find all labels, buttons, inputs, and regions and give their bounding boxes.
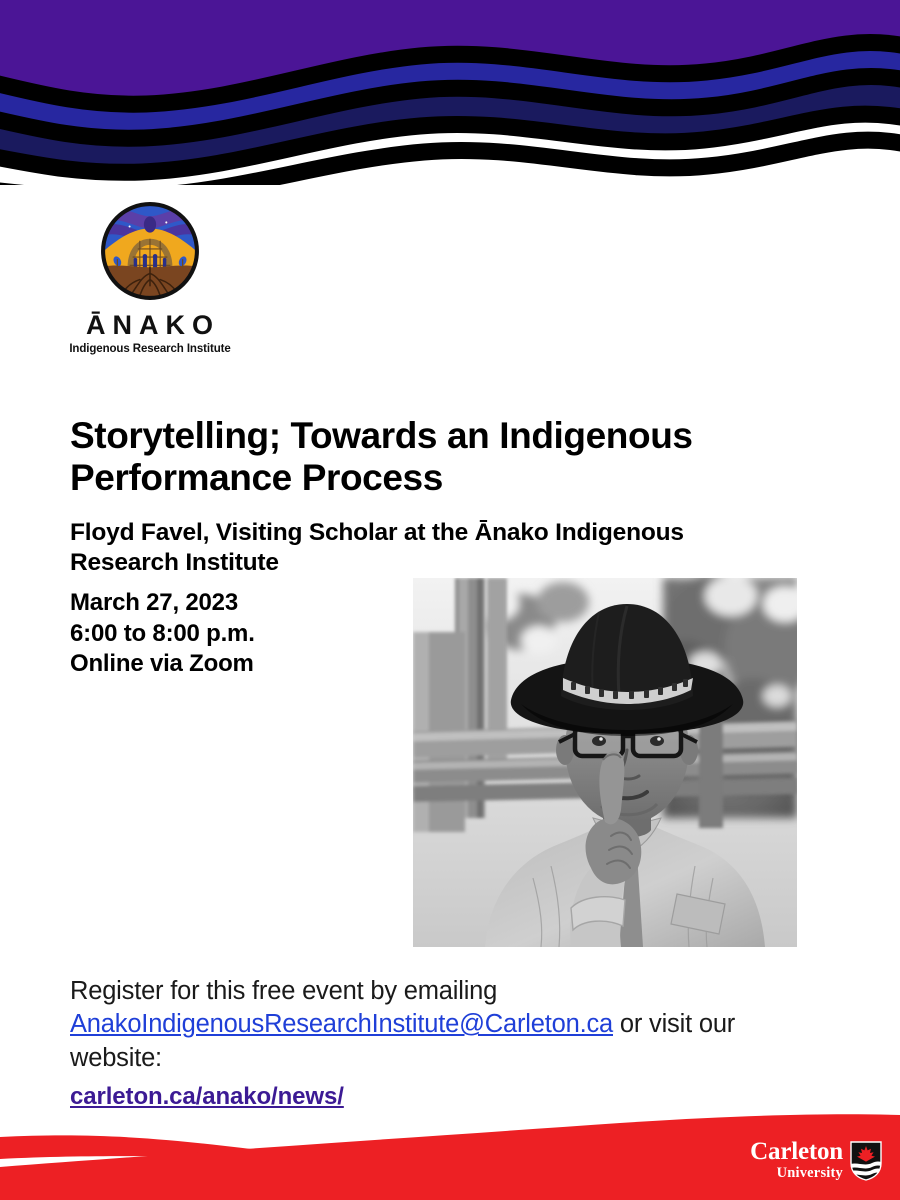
event-location: Online via Zoom (70, 649, 390, 680)
anako-wordmark: ĀNAKO (60, 312, 240, 339)
carleton-university-logo: Carleton University (750, 1139, 882, 1182)
carleton-wordmark: Carleton University (750, 1139, 843, 1182)
carleton-name: Carleton (750, 1139, 843, 1164)
event-details: March 27, 2023 6:00 to 8:00 p.m. Online … (70, 588, 390, 680)
carleton-shield-icon (850, 1141, 882, 1181)
decorative-wave-banner (0, 0, 900, 185)
anako-roundel-icon (99, 200, 201, 302)
anako-logo: ĀNAKO Indigenous Research Institute (60, 200, 240, 356)
carleton-subname: University (750, 1165, 843, 1182)
footer-wave-banner: Carleton University (0, 1085, 900, 1200)
event-title: Storytelling; Towards an Indigenous Perf… (70, 415, 810, 499)
anako-tagline: Indigenous Research Institute (60, 344, 240, 356)
event-time: 6:00 to 8:00 p.m. (70, 619, 390, 650)
registration-text: Register for this free event by emailing… (70, 975, 810, 1075)
registration-lead: Register for this free event by emailing (70, 977, 497, 1005)
event-poster: ĀNAKO Indigenous Research Institute Stor… (0, 0, 900, 1200)
event-date: March 27, 2023 (70, 588, 390, 619)
event-speaker: Floyd Favel, Visiting Scholar at the Āna… (70, 518, 790, 577)
portrait-image (413, 578, 797, 947)
speaker-portrait-photo (413, 578, 797, 947)
registration-email-link[interactable]: AnakoIndigenousResearchInstitute@Carleto… (70, 1010, 613, 1038)
